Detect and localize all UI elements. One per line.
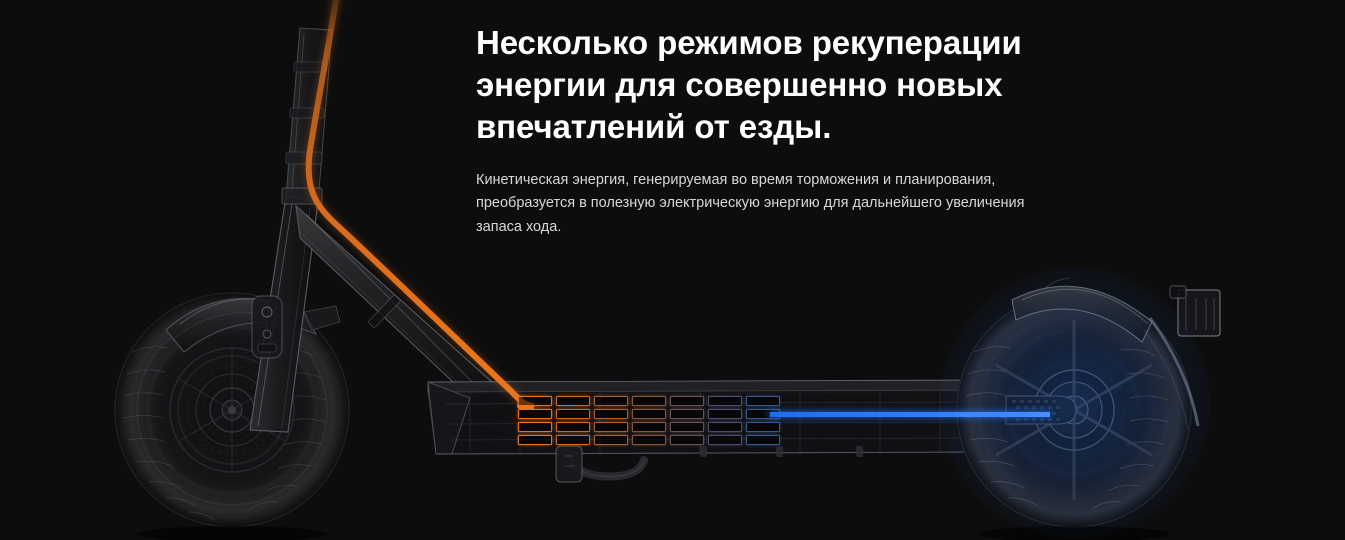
battery-cell xyxy=(632,435,666,445)
battery-cell xyxy=(670,409,704,419)
battery-column xyxy=(556,396,590,445)
battery-cell xyxy=(518,396,552,406)
battery-cell xyxy=(708,435,742,445)
battery-cell xyxy=(518,409,552,419)
taillight-housing xyxy=(1170,286,1220,336)
battery-cell xyxy=(708,396,742,406)
battery-cell xyxy=(708,422,742,432)
battery-cell xyxy=(746,422,780,432)
battery-cell xyxy=(556,409,590,419)
battery-cell xyxy=(556,435,590,445)
battery-column xyxy=(746,396,780,445)
battery-cell xyxy=(746,435,780,445)
battery-cell xyxy=(632,422,666,432)
battery-column xyxy=(708,396,742,445)
battery-cell xyxy=(594,409,628,419)
body-paragraph: Кинетическая энергия, генерируемая во вр… xyxy=(476,169,1046,239)
battery-cell xyxy=(556,396,590,406)
battery-cell xyxy=(518,435,552,445)
battery-cell xyxy=(670,422,704,432)
battery-cell xyxy=(746,396,780,406)
battery-cell xyxy=(632,409,666,419)
battery-column xyxy=(518,396,552,445)
battery-cell xyxy=(518,422,552,432)
battery-cell xyxy=(670,396,704,406)
battery-column xyxy=(670,396,704,445)
battery-cell-array xyxy=(518,396,780,445)
rear-wheel-hub-motor xyxy=(956,278,1192,528)
blue-energy-beam-inner xyxy=(960,413,1030,416)
battery-column xyxy=(594,396,628,445)
hero-section: Несколько режимов рекуперации энергии дл… xyxy=(0,0,1345,540)
page-title: Несколько режимов рекуперации энергии дл… xyxy=(476,22,1056,149)
hero-copy: Несколько режимов рекуперации энергии дл… xyxy=(476,22,1056,239)
battery-cell xyxy=(670,435,704,445)
battery-cell xyxy=(594,435,628,445)
battery-cell xyxy=(594,396,628,406)
battery-cell xyxy=(556,422,590,432)
battery-cell xyxy=(632,396,666,406)
battery-column xyxy=(632,396,666,445)
battery-cell xyxy=(594,422,628,432)
battery-cell xyxy=(708,409,742,419)
